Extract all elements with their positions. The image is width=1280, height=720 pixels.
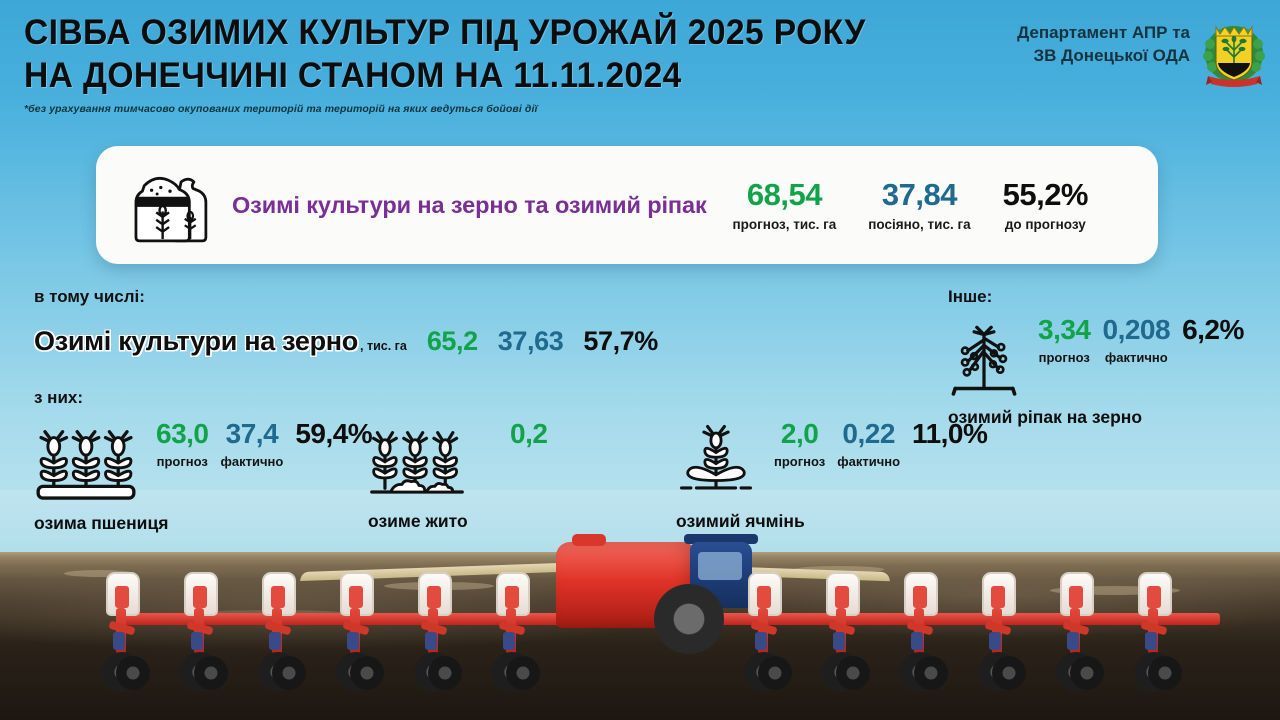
grain-total-unit: , тис. га [360,339,407,353]
disclaimer-note: *без урахування тимчасово окупованих тер… [24,103,904,115]
label-other: Інше: [948,287,992,307]
barley-actual: 0,22 фактично [831,420,906,469]
rye-caption: озиме жито [368,511,553,532]
rye-forecast: 0,2 [504,420,553,448]
seeder-machine [0,527,1280,702]
department-name: Департамент АПР та ЗВ Донецької ОДА [1017,22,1190,68]
page-title-block: СІВБА ОЗИМИХ КУЛЬТУР ПІД УРОЖАЙ 2025 РОК… [24,12,904,115]
summary-stat-sown: 37,84 посіяно, тис. га [852,179,986,232]
department-line1: Департамент АПР та [1017,22,1190,45]
wheat-actual: 37,4 фактично [215,420,290,469]
label-of-them: з них: [34,388,83,408]
summary-sown-label: посіяно, тис. га [868,217,970,232]
summary-forecast-label: прогноз, тис. га [733,217,837,232]
rapeseed-actual-value: 0,208 [1103,316,1171,344]
grain-total-row: Озимі культури на зерно , тис. га 65,2 3… [34,326,658,357]
crop-block-winter-rye: 0,2 озиме жито [368,420,553,532]
rapeseed-caption: озимий ріпак на зерно [948,407,1250,428]
wheat-caption: озима пшениця [34,513,378,534]
page-title-line2: НА ДОНЕЧЧИНІ СТАНОМ НА 11.11.2024 [24,55,869,98]
grain-sacks-icon [114,165,226,245]
rapeseed-actual-label: фактично [1103,350,1171,365]
barley-forecast-label: прогноз [774,454,825,469]
rapeseed-forecast: 3,34 прогноз [1032,316,1097,365]
crop-block-winter-rapeseed: 3,34 прогноз 0,208 фактично 6,2% озимий … [948,316,1250,428]
coat-of-arms-icon [1202,14,1266,88]
crop-block-winter-wheat: 63,0 прогноз 37,4 фактично 59,4% озима п… [34,420,378,534]
barley-actual-value: 0,22 [837,420,900,448]
rapeseed-percent: 6,2% [1176,316,1250,344]
wheat-percent: 59,4% [289,420,378,448]
three-rye-stalks-icon [368,420,466,505]
barley-forecast: 2,0 прогноз [768,420,831,469]
summary-percent-label: до прогнозу [1003,217,1088,232]
three-wheat-stalks-icon [34,420,138,507]
summary-stat-percent: 55,2% до прогнозу [987,179,1104,232]
wheat-forecast-label: прогноз [156,454,209,469]
grain-total-actual: 37,63 [498,326,564,357]
grain-total-name: Озимі культури на зерно [34,326,358,357]
label-including: в тому числі: [34,287,145,307]
infographic-root: СІВБА ОЗИМИХ КУЛЬТУР ПІД УРОЖАЙ 2025 РОК… [0,0,1280,720]
summary-stats: 68,54 прогноз, тис. га 37,84 посіяно, ти… [717,179,1104,232]
summary-card: Озимі культури на зерно та озимий ріпак … [96,146,1158,264]
wheat-percent-value: 59,4% [295,420,372,448]
rapeseed-plant-icon [948,316,1020,403]
barley-forecast-value: 2,0 [774,420,825,448]
rye-forecast-value: 0,2 [510,420,547,448]
grain-total-forecast: 65,2 [427,326,478,357]
department-line2: ЗВ Донецької ОДА [1017,45,1190,68]
summary-card-title: Озимі культури на зерно та озимий ріпак [232,192,707,219]
wheat-actual-label: фактично [221,454,284,469]
rapeseed-actual: 0,208 фактично [1097,316,1177,365]
page-title-line1: СІВБА ОЗИМИХ КУЛЬТУР ПІД УРОЖАЙ 2025 РОК… [24,12,869,55]
crop-block-winter-barley: 2,0 прогноз 0,22 фактично 11,0% озимий я… [676,420,993,532]
summary-forecast-value: 68,54 [733,179,837,210]
summary-sown-value: 37,84 [868,179,970,210]
barley-caption: озимий ячмінь [676,511,993,532]
rapeseed-percent-value: 6,2% [1182,316,1244,344]
barley-actual-label: фактично [837,454,900,469]
wheat-forecast: 63,0 прогноз [150,420,215,469]
rapeseed-forecast-label: прогноз [1038,350,1091,365]
summary-percent-value: 55,2% [1003,179,1088,210]
wheat-actual-value: 37,4 [221,420,284,448]
rapeseed-forecast-value: 3,34 [1038,316,1091,344]
wheat-forecast-value: 63,0 [156,420,209,448]
grain-total-percent: 57,7% [583,326,658,357]
summary-stat-forecast: 68,54 прогноз, тис. га [717,179,853,232]
barley-sprout-icon [676,420,756,505]
